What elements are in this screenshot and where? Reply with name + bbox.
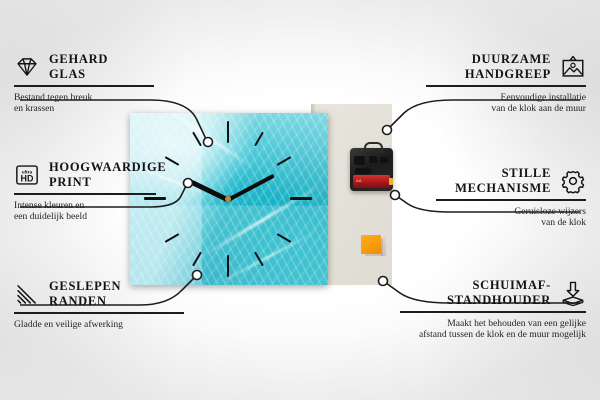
feature-desc: Gladde en veilige afwerking [14,319,184,331]
battery: AA [353,175,390,188]
foam-spacer [361,235,381,254]
feature-gehard-glas[interactable]: GEHARD GLAS Bestand tegen breuk en krass… [14,52,154,115]
feature-desc: Intense kleuren en een duidelijk beeld [14,200,156,223]
feature-hoogwaardige-print[interactable]: ultra HD HOOGWAARDIGE PRINT Intense kleu… [14,160,156,223]
beveled-edge-icon [14,281,40,307]
clock-movement: AA [350,148,393,191]
foam-spacer-side [381,237,386,256]
spacer-press-icon [560,280,586,306]
feature-schuimafstandhouder[interactable]: SCHUIMAF- STANDHOUDER Maakt het behouden… [400,278,586,341]
feature-stille-mechanisme[interactable]: STILLE MECHANISME Geruisloze wijzers van… [436,166,586,229]
feature-title: HOOGWAARDIGE PRINT [49,160,166,189]
wall-clock [130,113,328,285]
diamond-icon [14,54,40,80]
feature-title: STILLE MECHANISME [455,166,551,195]
divider [400,311,586,313]
feature-title: GEHARD GLAS [49,52,108,81]
movement-hanger-icon [364,142,383,153]
divider [14,193,156,195]
divider [426,85,586,87]
feature-geslepen-randen[interactable]: GESLEPEN RANDEN Gladde en veilige afwerk… [14,279,184,330]
battery-terminal [389,178,393,185]
feature-duurzame-handgreep[interactable]: DUURZAME HANDGREEP Eenvoudige installati… [426,52,586,115]
clock-hub [225,196,231,202]
feature-title: GESLEPEN RANDEN [49,279,121,308]
tick-6 [227,255,229,277]
svg-text:HD: HD [21,173,34,183]
product-photo: AA [130,95,392,285]
divider [14,312,184,314]
feature-title: SCHUIMAF- STANDHOUDER [447,278,551,307]
feature-desc: Bestand tegen breuk en krassen [14,92,154,115]
feature-desc: Eenvoudige installatie van de klok aan d… [426,92,586,115]
divider [14,85,154,87]
infographic-canvas: AA GEHARD GLAS [0,0,600,400]
tick-3 [290,197,312,200]
divider [436,199,586,201]
feature-desc: Maakt het behouden van een gelijke afsta… [400,318,586,341]
picture-frame-hanger-icon [560,54,586,80]
gear-icon [560,168,586,194]
tick-12 [227,121,229,143]
feature-title: DUURZAME HANDGREEP [465,52,551,81]
battery-label: AA [356,178,362,183]
ultra-hd-icon: ultra HD [14,162,40,188]
feature-desc: Geruisloze wijzers van de klok [436,206,586,229]
